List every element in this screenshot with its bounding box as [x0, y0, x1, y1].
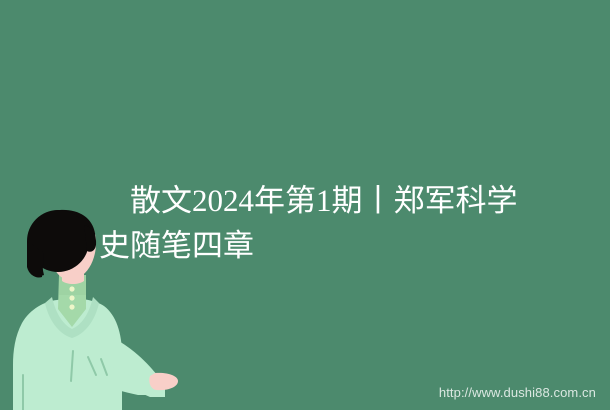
watermark-url: http://www.dushi88.com.cn [439, 385, 596, 400]
collar-button-bottom [69, 304, 74, 309]
page-title-text: 散文2024年第1期丨郑军科学史随笔四章 [99, 183, 518, 263]
page-title: 散文2024年第1期丨郑军科学史随笔四章 [99, 133, 529, 313]
collar-button-middle [69, 295, 74, 300]
article-cover-banner: 散文2024年第1期丨郑军科学史随笔四章 http://www.dushi88.… [0, 0, 610, 410]
collar-button-top [69, 286, 74, 291]
hand-shape [149, 373, 178, 390]
